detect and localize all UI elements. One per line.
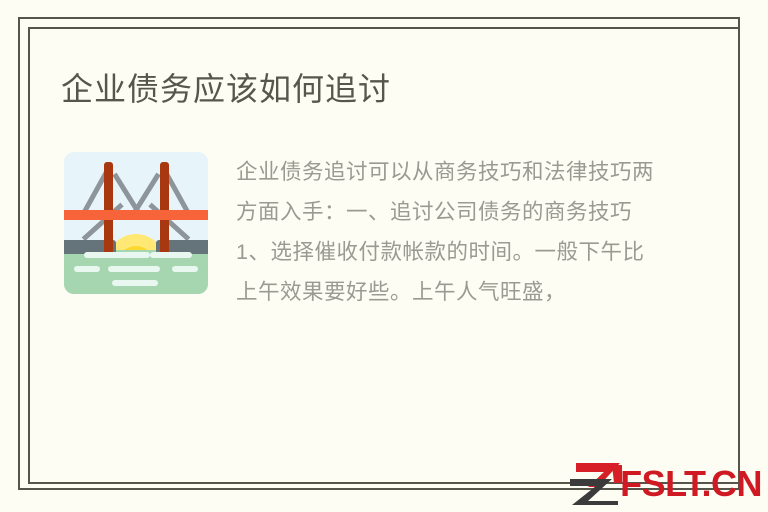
bridge-tower-icon (104, 162, 113, 254)
article-summary: 企业债务追讨可以从商务技巧和法律技巧两方面入手：一、追讨公司债务的商务技巧1、选… (236, 152, 656, 312)
water-ripple (108, 266, 160, 272)
article-body-row: 企业债务追讨可以从商务技巧和法律技巧两方面入手：一、追讨公司债务的商务技巧1、选… (64, 152, 714, 312)
bridge-tower-icon (160, 162, 169, 254)
watermark-text: FSLT.CN (620, 466, 762, 502)
water-ripple (112, 280, 158, 286)
bridge-deck-icon (64, 210, 208, 220)
water-ripple (172, 266, 198, 272)
water-ripple (150, 252, 192, 258)
bridge-illustration-thumbnail (64, 152, 208, 294)
site-watermark: FSLT.CN (568, 460, 762, 508)
water-ripple (74, 266, 100, 272)
page-title: 企业债务应该如何追讨 (61, 69, 391, 109)
z-logo-icon (568, 461, 626, 507)
water-ripple (84, 252, 150, 258)
article-card: 企业债务应该如何追讨 (28, 27, 740, 484)
